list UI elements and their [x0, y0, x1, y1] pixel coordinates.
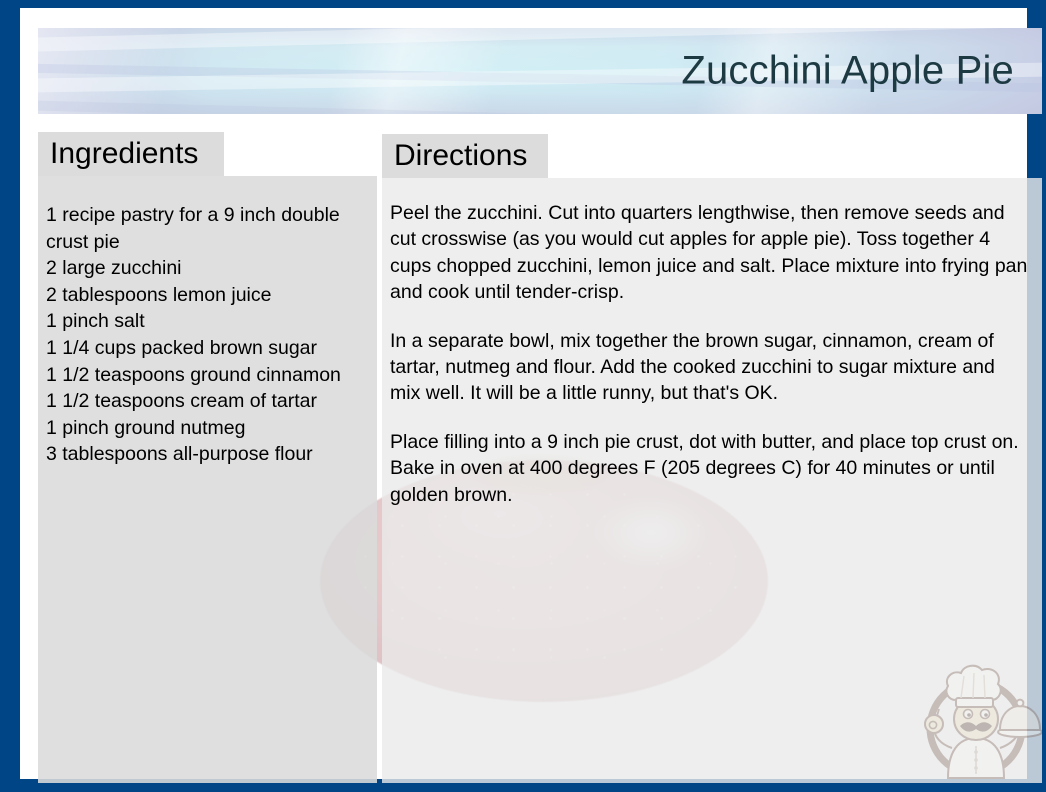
ingredients-list: 1 recipe pastry for a 9 inch double crus… — [38, 176, 377, 783]
list-item: 1 recipe pastry for a 9 inch double crus… — [46, 202, 367, 255]
list-item: 1 1/4 cups packed brown sugar — [46, 335, 367, 362]
list-item: 1 1/2 teaspoons cream of tartar — [46, 388, 367, 415]
list-item: 1 pinch ground nutmeg — [46, 415, 367, 442]
direction-paragraph: Place filling into a 9 inch pie crust, d… — [390, 429, 1028, 508]
list-item: 3 tablespoons all-purpose flour — [46, 441, 367, 468]
page-surface: Zucchini Apple Pie Ingredients 1 recipe … — [20, 8, 1027, 779]
title-banner: Zucchini Apple Pie — [38, 28, 1042, 114]
recipe-card: Zucchini Apple Pie Ingredients 1 recipe … — [0, 0, 1046, 792]
directions-heading: Directions — [382, 134, 548, 178]
list-item: 2 large zucchini — [46, 255, 367, 282]
directions-text: Peel the zucchini. Cut into quarters len… — [382, 178, 1042, 783]
page-title: Zucchini Apple Pie — [681, 49, 1014, 94]
ingredients-heading: Ingredients — [38, 132, 224, 176]
banner-streak — [38, 98, 1042, 114]
direction-paragraph: Peel the zucchini. Cut into quarters len… — [390, 200, 1028, 306]
list-item: 1 pinch salt — [46, 308, 367, 335]
list-item: 1 1/2 teaspoons ground cinnamon — [46, 362, 367, 389]
direction-paragraph: In a separate bowl, mix together the bro… — [390, 328, 1028, 407]
list-item: 2 tablespoons lemon juice — [46, 282, 367, 309]
